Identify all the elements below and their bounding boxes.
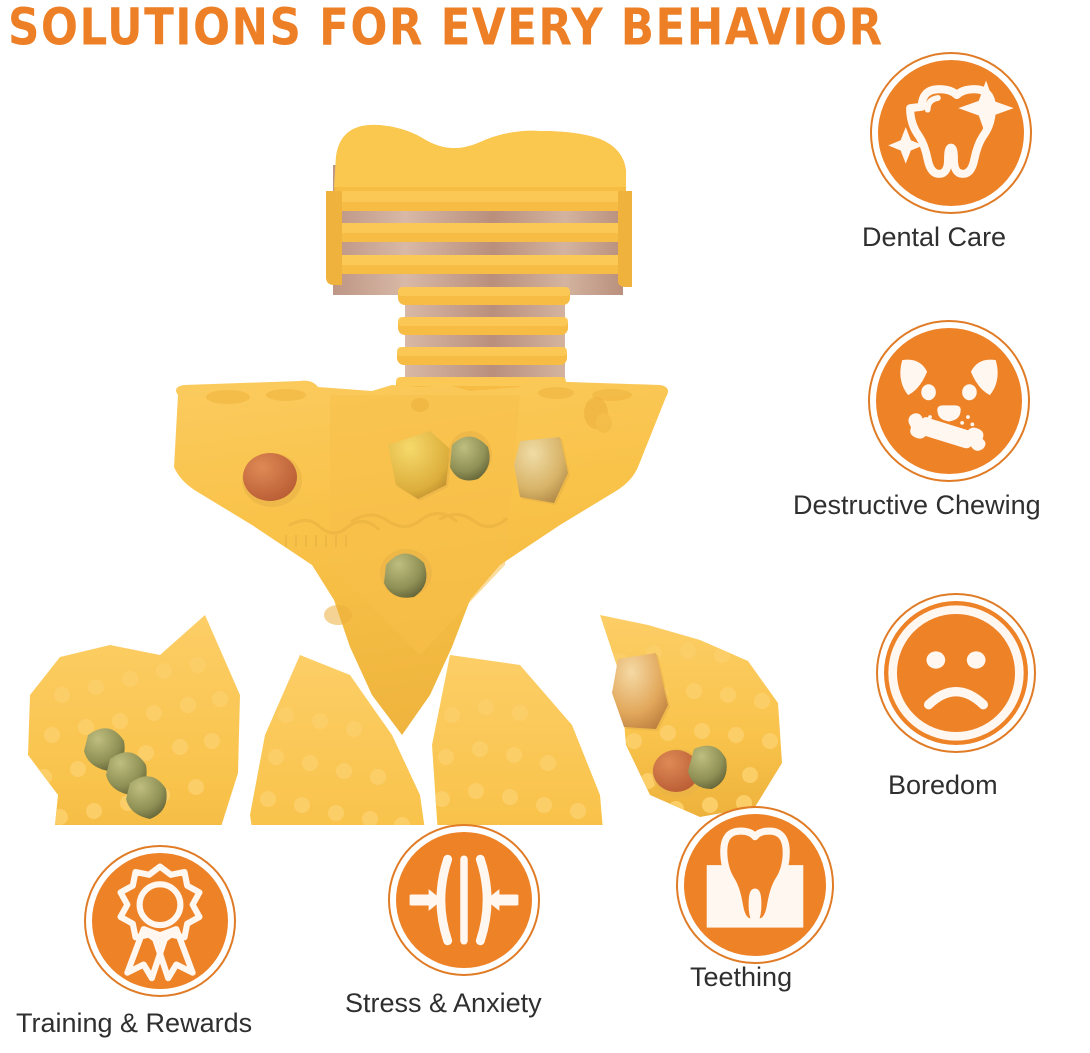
benefit-label-destructive-chewing: Destructive Chewing [793, 490, 1041, 521]
benefit-label-training-rewards: Training & Rewards [16, 1008, 252, 1039]
benefit-badge-boredom[interactable] [876, 593, 1036, 753]
page-title: SOLUTIONS FOR EVERY BEHAVIOR [8, 2, 862, 52]
dog-face-bone-icon [876, 328, 1022, 474]
award-ribbon-icon [92, 853, 228, 989]
benefit-badge-dental-care[interactable] [870, 52, 1032, 214]
product-top-ridged-section [326, 125, 632, 395]
benefit-label-stress-anxiety: Stress & Anxiety [345, 988, 542, 1019]
benefit-badge-training-rewards[interactable] [84, 845, 236, 997]
infographic-root: SOLUTIONS FOR EVERY BEHAVIOR [0, 0, 1090, 1053]
product-image [0, 95, 800, 825]
benefit-badge-destructive-chewing[interactable] [868, 320, 1030, 482]
tooth-sparkle-icon [878, 60, 1024, 206]
sad-face-icon [884, 601, 1028, 745]
benefit-label-boredom: Boredom [888, 770, 998, 801]
benefit-badge-teething[interactable] [676, 806, 834, 964]
tooth-gums-icon [684, 814, 826, 956]
benefit-label-dental-care: Dental Care [862, 222, 1006, 253]
benefit-label-teething: Teething [690, 962, 792, 993]
benefit-badge-stress-anxiety[interactable] [388, 824, 540, 976]
compression-arrows-icon [396, 832, 532, 968]
